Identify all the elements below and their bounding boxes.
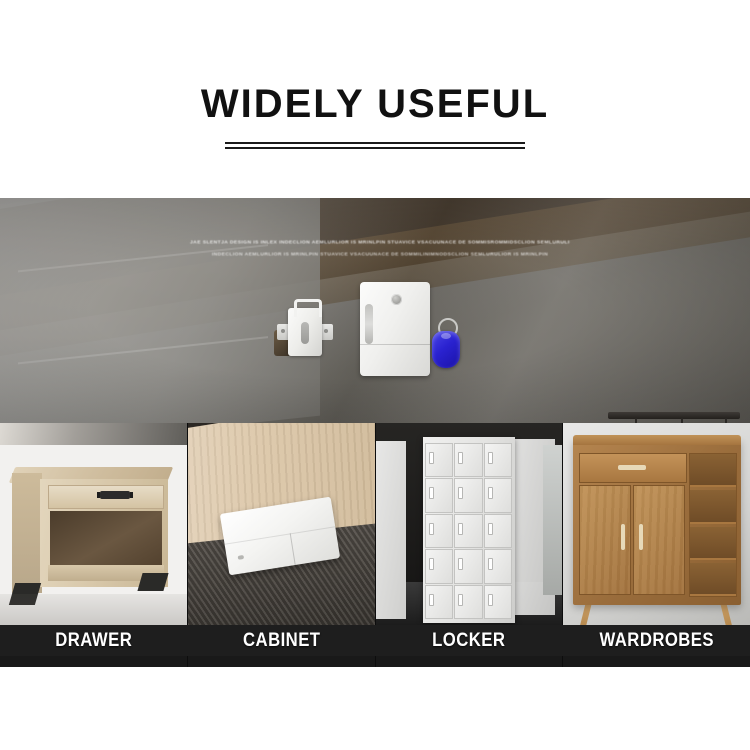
locker-handle-icon bbox=[429, 487, 434, 499]
nightstand-open-shelf-cavity bbox=[50, 511, 162, 567]
locker-handle-icon bbox=[429, 558, 434, 570]
hero-rail-upper bbox=[178, 178, 568, 179]
lamp-cord-icon bbox=[681, 418, 683, 423]
caption-cabinet: CABINET bbox=[199, 630, 364, 652]
background-corner bbox=[0, 423, 188, 445]
wardrobe-door-left bbox=[579, 485, 631, 595]
gallery-caption-bar: DRAWER CABINET LOCKER WARDROBES bbox=[0, 625, 750, 656]
locker-door bbox=[484, 514, 513, 548]
lock-body-seam bbox=[360, 344, 430, 345]
caption-wardrobes: WARDROBES bbox=[574, 630, 739, 652]
lock-button-icon bbox=[391, 294, 402, 305]
lock-vertical-seam bbox=[289, 533, 295, 565]
lamp-cord-icon bbox=[725, 418, 727, 423]
latch-hook-icon bbox=[294, 299, 322, 317]
divider-rule-top bbox=[225, 142, 525, 144]
locker-door bbox=[454, 514, 483, 548]
hero-overlay-text: JAE SLENTJA DESIGN IS INLEX INDECLION AE… bbox=[190, 237, 570, 260]
locker-room-window bbox=[543, 445, 563, 595]
wardrobe-shelf bbox=[690, 454, 736, 487]
drawer-handle-icon bbox=[100, 491, 130, 499]
hero-overlay-text-line2: INDECLION AEMLURLIOR IS MRINLPIN STUAVIC… bbox=[190, 249, 570, 261]
wardrobe-shelf bbox=[690, 527, 736, 560]
locker-handle-icon bbox=[429, 594, 434, 606]
locker-door bbox=[454, 549, 483, 583]
caption-drawer: DRAWER bbox=[11, 630, 176, 652]
lamp-cord-icon bbox=[635, 418, 637, 423]
locker-handle-icon bbox=[488, 594, 493, 606]
product-marketing-page: WIDELY USEFUL bbox=[0, 0, 750, 750]
screw-hole-icon bbox=[324, 329, 328, 333]
locker-door bbox=[425, 478, 454, 512]
locker-door bbox=[425, 585, 454, 619]
lock-horizontal-seam bbox=[224, 526, 335, 545]
wardrobe-door-pair bbox=[579, 485, 685, 595]
locker-door bbox=[484, 478, 513, 512]
locker-door bbox=[484, 549, 513, 583]
locker-door bbox=[425, 443, 454, 477]
fob-tag bbox=[432, 331, 460, 368]
screw-hole-icon bbox=[281, 329, 285, 333]
locker-handle-icon bbox=[458, 523, 463, 535]
locker-door bbox=[454, 478, 483, 512]
locker-handle-icon bbox=[488, 452, 493, 464]
locker-door bbox=[425, 514, 454, 548]
wardrobe-drawer-handle-icon bbox=[618, 465, 646, 470]
locker-handle-icon bbox=[488, 523, 493, 535]
hero-rail-lower bbox=[188, 186, 560, 187]
locker-handle-icon bbox=[458, 452, 463, 464]
locker-unit-narrow bbox=[376, 441, 406, 619]
wardrobe-door-handle-icon bbox=[621, 524, 625, 550]
wardrobe-open-shelving bbox=[689, 453, 737, 597]
page-header: WIDELY USEFUL bbox=[0, 0, 750, 149]
wardrobe-top-lip bbox=[573, 435, 741, 445]
white-lock-on-wood-cabinet-photo bbox=[188, 423, 376, 628]
lamp-mounting-bar bbox=[608, 412, 740, 419]
locker-handle-icon bbox=[429, 523, 434, 535]
locker-door bbox=[425, 549, 454, 583]
gray-metal-lockers-photo bbox=[376, 423, 564, 628]
wardrobe-door-handle-icon bbox=[639, 524, 643, 550]
latch-keyhole-icon bbox=[301, 322, 309, 344]
fob-highlight bbox=[441, 333, 451, 339]
cabinet-latch-lock bbox=[288, 308, 322, 356]
locker-door bbox=[454, 443, 483, 477]
lock-led-icon bbox=[237, 555, 244, 560]
nightstand-side-panel bbox=[12, 473, 42, 593]
hero-overlay-text-line1: JAE SLENTJA DESIGN IS INLEX INDECLION AE… bbox=[190, 237, 570, 249]
rfid-key-fob bbox=[432, 318, 460, 368]
wardrobe-door-right bbox=[633, 485, 685, 595]
locker-handle-icon bbox=[458, 487, 463, 499]
wardrobe-shelf bbox=[690, 490, 736, 523]
nightstand-foot-right bbox=[137, 573, 168, 591]
divider-rule-bottom bbox=[225, 147, 525, 149]
locker-handle-icon bbox=[429, 452, 434, 464]
locker-door bbox=[454, 585, 483, 619]
pendant-lamp-cluster bbox=[600, 406, 750, 423]
wardrobe-drawer bbox=[579, 453, 687, 483]
wardrobe-shelf bbox=[690, 563, 736, 596]
locker-door bbox=[484, 443, 513, 477]
locker-handle-icon bbox=[488, 487, 493, 499]
caption-locker: LOCKER bbox=[386, 630, 551, 652]
locker-door-grid bbox=[425, 443, 513, 619]
rfid-lock-body bbox=[360, 282, 430, 376]
floor-shadow bbox=[0, 594, 188, 628]
locker-handle-icon bbox=[488, 558, 493, 570]
oak-nightstand-drawer-photo bbox=[0, 423, 188, 628]
locker-door bbox=[484, 585, 513, 619]
page-title: WIDELY USEFUL bbox=[0, 84, 750, 124]
locker-unit-main bbox=[423, 437, 515, 623]
locker-handle-icon bbox=[458, 558, 463, 570]
lock-indicator-slot bbox=[365, 304, 373, 344]
locker-handle-icon bbox=[458, 594, 463, 606]
title-divider bbox=[225, 142, 525, 149]
walnut-wardrobe-cabinet-photo bbox=[563, 423, 750, 628]
